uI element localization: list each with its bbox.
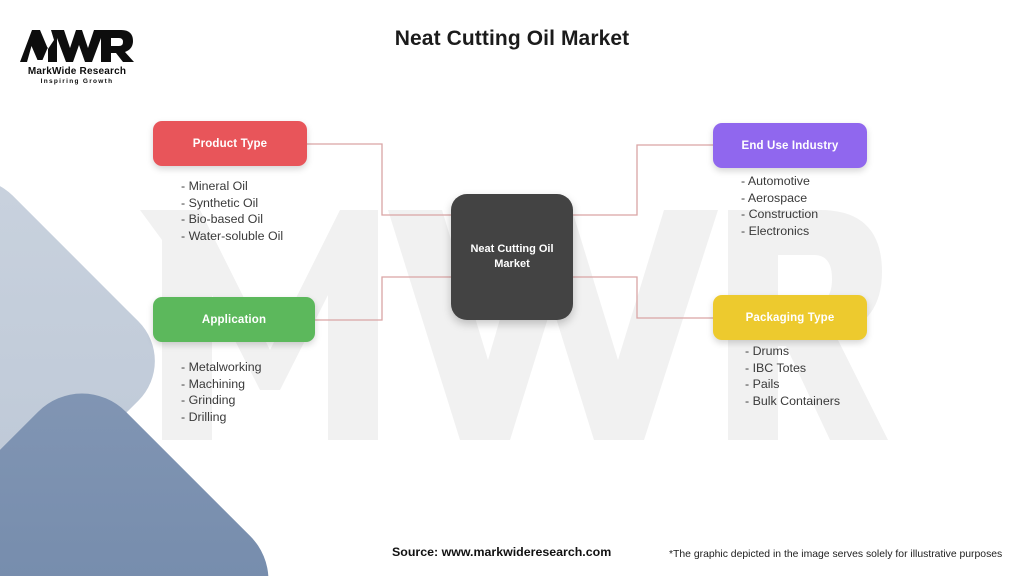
list-item: - Bio-based Oil — [181, 211, 283, 228]
footer-source[interactable]: Source: www.markwideresearch.com — [392, 545, 611, 559]
center-node-label: Neat Cutting Oil Market — [459, 242, 565, 273]
item-list-packaging-type: - Drums - IBC Totes - Pails - Bulk Conta… — [745, 343, 840, 409]
list-item: - Aerospace — [741, 190, 818, 207]
page-title: Neat Cutting Oil Market — [0, 27, 1024, 51]
svg-text:MarkWide Research: MarkWide Research — [28, 66, 126, 77]
item-list-end-use-industry: - Automotive - Aerospace - Construction … — [741, 173, 818, 239]
branch-box-application[interactable]: Application — [153, 297, 315, 342]
list-item: - Machining — [181, 376, 262, 393]
center-node[interactable]: Neat Cutting Oil Market — [451, 194, 573, 320]
item-list-product-type: - Mineral Oil - Synthetic Oil - Bio-base… — [181, 178, 283, 244]
list-item: - Water-soluble Oil — [181, 228, 283, 245]
list-item: - Automotive — [741, 173, 818, 190]
branch-box-packaging-type[interactable]: Packaging Type — [713, 295, 867, 340]
list-item: - Drilling — [181, 409, 262, 426]
connector-packaging-type — [573, 277, 713, 318]
list-item: - Mineral Oil — [181, 178, 283, 195]
infographic-canvas: MarkWide Research Inspiring Growth Neat … — [0, 0, 1024, 576]
branch-label-end-use-industry: End Use Industry — [742, 140, 839, 152]
list-item: - Construction — [741, 206, 818, 223]
decorative-shape-light — [0, 156, 178, 566]
list-item: - Electronics — [741, 223, 818, 240]
svg-text:Inspiring Growth: Inspiring Growth — [41, 78, 114, 85]
list-item: - Grinding — [181, 392, 262, 409]
connector-application — [315, 277, 451, 320]
branch-label-packaging-type: Packaging Type — [746, 312, 835, 324]
connector-end-use-industry — [573, 145, 713, 215]
list-item: - Bulk Containers — [745, 393, 840, 410]
footer-disclaimer: *The graphic depicted in the image serve… — [669, 549, 1002, 560]
list-item: - Pails — [745, 376, 840, 393]
branch-box-end-use-industry[interactable]: End Use Industry — [713, 123, 867, 168]
item-list-application: - Metalworking - Machining - Grinding - … — [181, 359, 262, 425]
list-item: - Synthetic Oil — [181, 195, 283, 212]
list-item: - IBC Totes — [745, 360, 840, 377]
branch-label-application: Application — [202, 314, 266, 326]
list-item: - Drums — [745, 343, 840, 360]
branch-box-product-type[interactable]: Product Type — [153, 121, 307, 166]
branch-label-product-type: Product Type — [193, 138, 267, 150]
list-item: - Metalworking — [181, 359, 262, 376]
connector-product-type — [307, 144, 451, 215]
